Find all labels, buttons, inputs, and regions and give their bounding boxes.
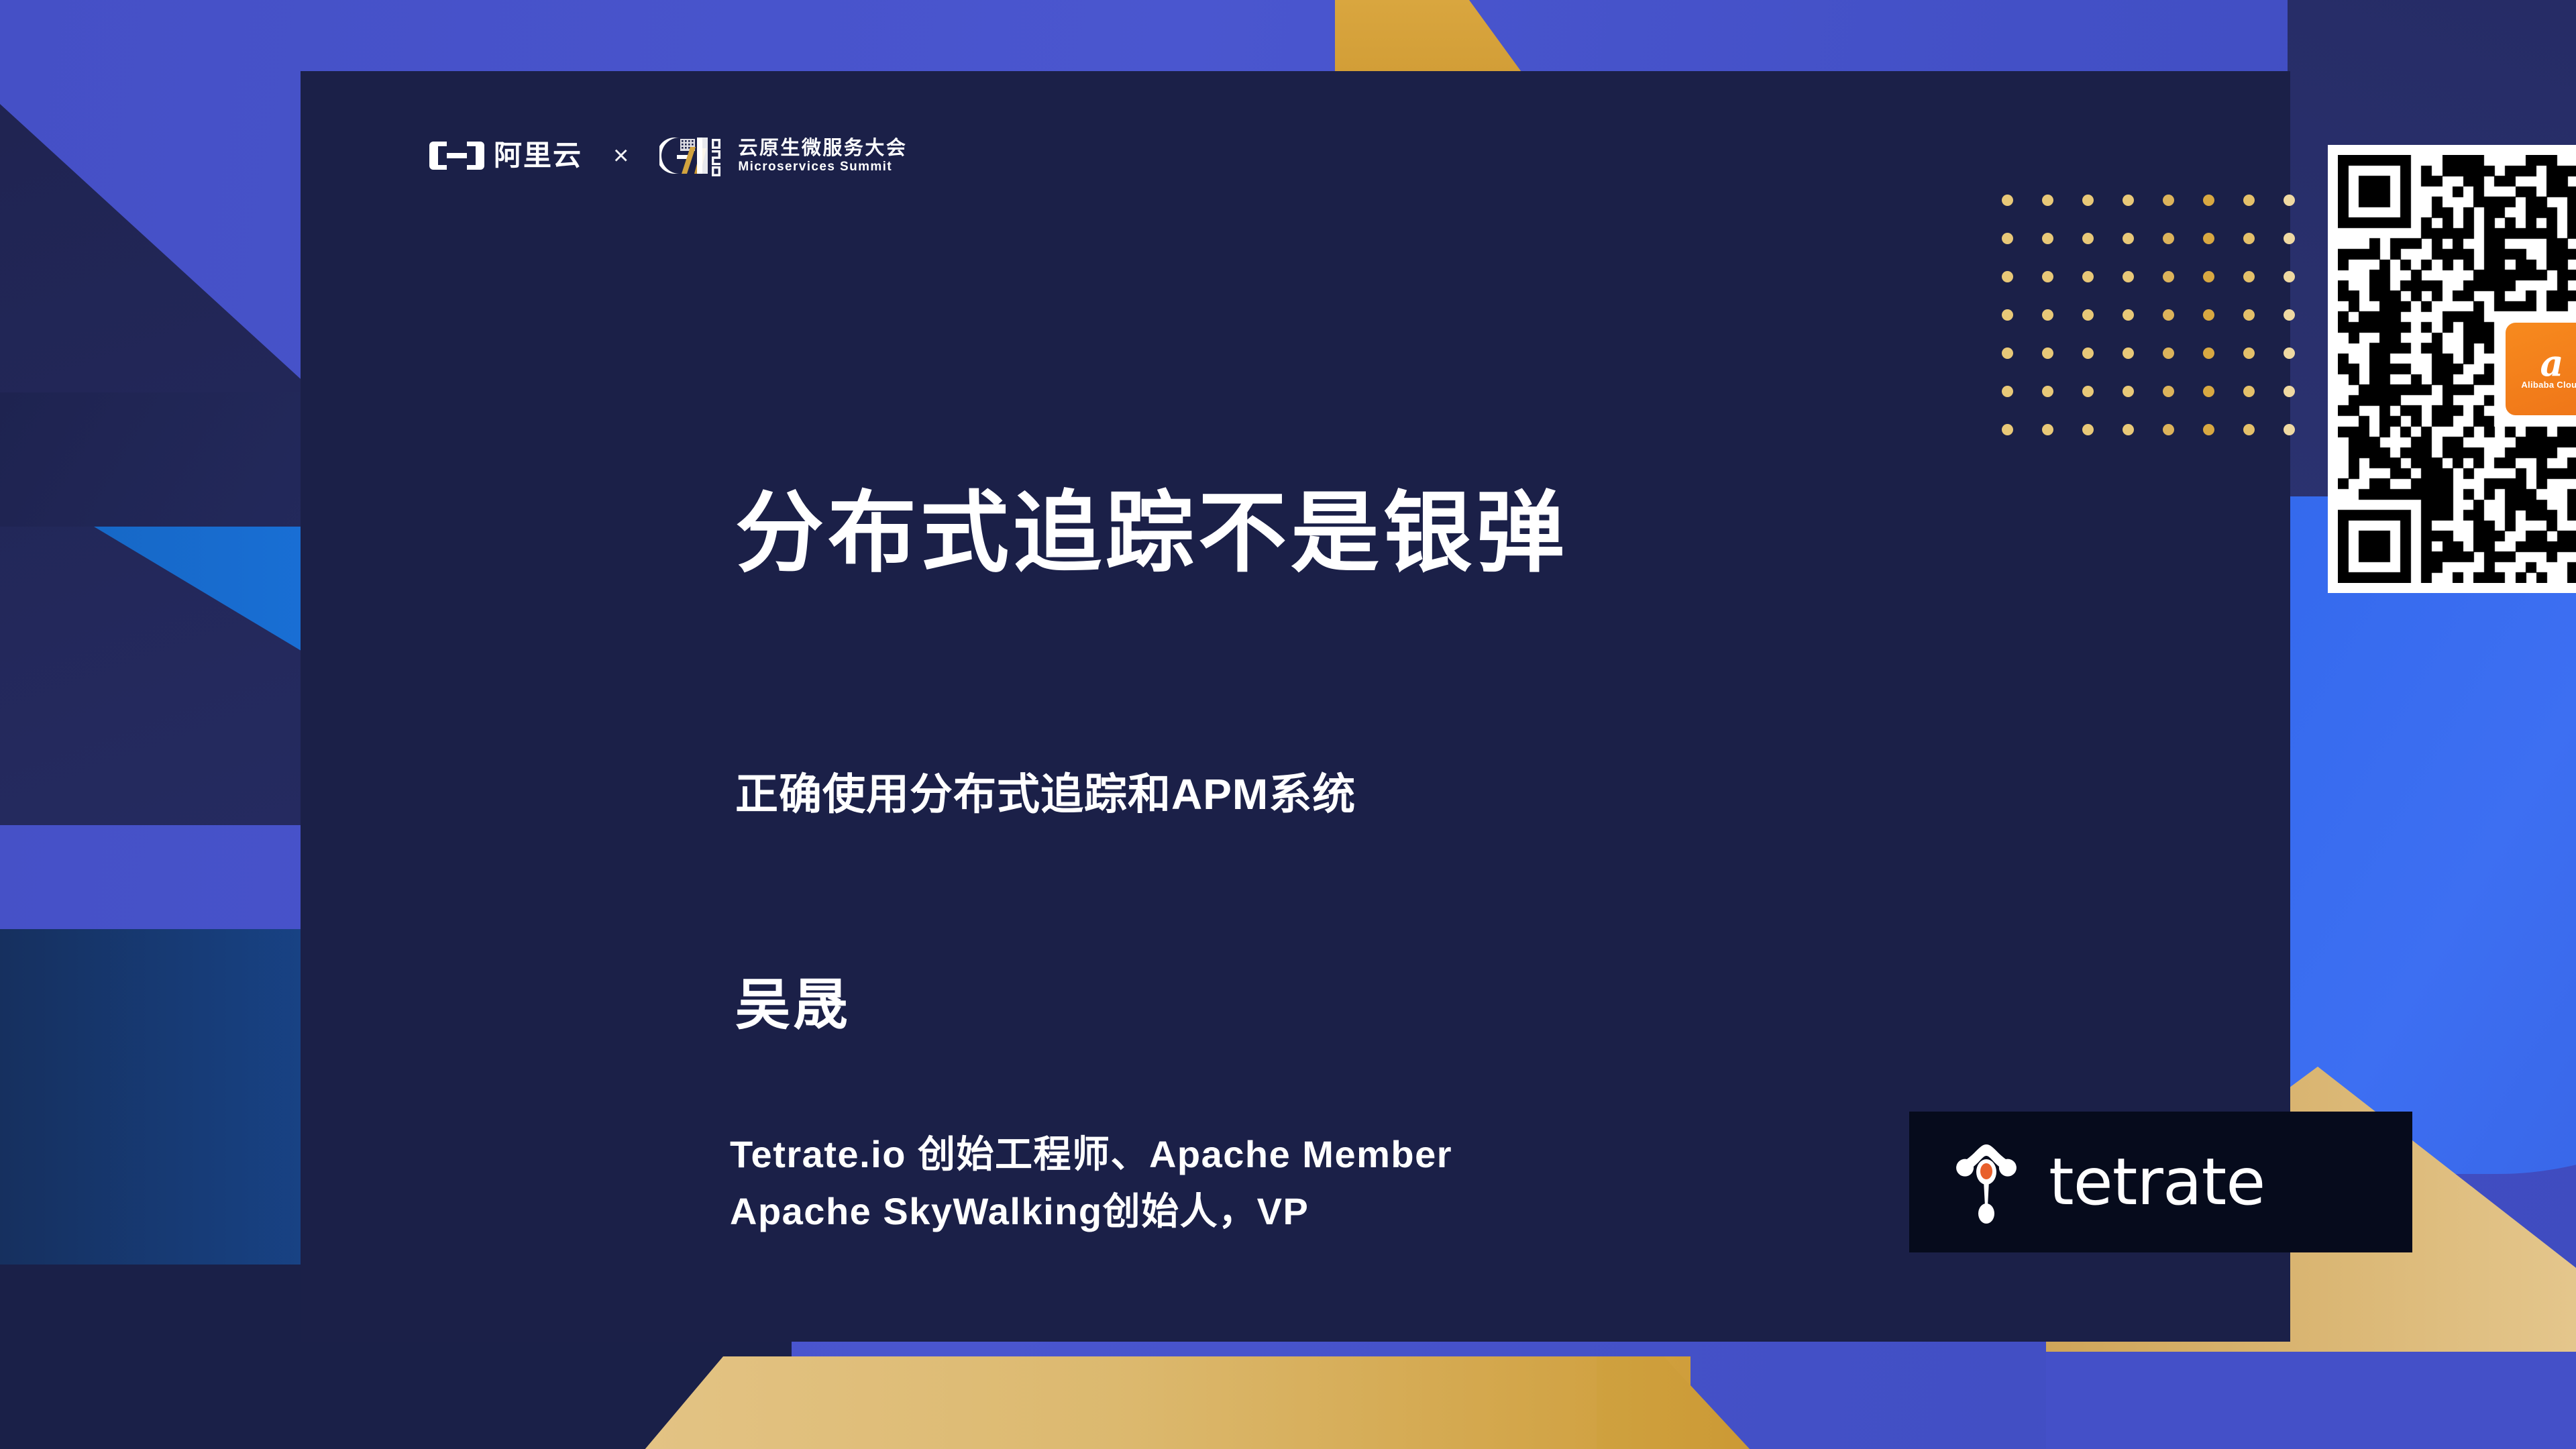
conference-name-block: 云原生微服务大会 Microservices Summit [738,139,907,173]
speaker-credentials-line-2: Apache SkyWalking创始人，VP [730,1183,1452,1240]
speaker-credentials-line-1: Tetrate.io 创始工程师、Apache Member [730,1126,1452,1183]
qr-center-logo-brand: Alibaba Cloud [2521,380,2576,390]
background-blue-bottom-right [2046,1352,2576,1449]
header-logo-row: 阿里云 × [429,135,907,176]
background-gold-band-bottom [644,1356,1690,1449]
alibaba-cloud-logo: 阿里云 [429,138,582,174]
alibaba-cloud-label: 阿里云 [494,142,582,170]
tetrate-mark-icon [1947,1135,2026,1229]
qr-center-logo: a Alibaba Cloud [2501,318,2576,420]
tetrate-wordmark: tetrate [2049,1150,2265,1214]
conference-name-zh: 云原生微服务大会 [738,139,907,158]
conference-name-en: Microservices Summit [738,160,907,173]
presentation-slide: 阿里云 × [0,0,2576,1449]
cn-2020-mark-icon [659,135,729,176]
slide-subtitle: 正确使用分布式追踪和APM系统 [735,769,1356,820]
cross-separator-icon: × [613,141,629,171]
gold-dot-grid-decoration [2002,195,2324,462]
conference-logo: 云原生微服务大会 Microservices Summit [659,135,907,176]
speaker-name: 吴晟 [735,975,851,1036]
speaker-credentials: Tetrate.io 创始工程师、Apache Member Apache Sk… [730,1126,1452,1240]
slide-card: 阿里云 × [301,71,2290,1342]
alibaba-swoosh-icon: a [2540,348,2564,378]
qr-code[interactable]: a Alibaba Cloud [2328,145,2576,593]
tetrate-logo: tetrate [1909,1112,2412,1252]
page-title: 分布式追踪不是银弹 [735,486,1568,582]
alibaba-cloud-bracket-icon [429,138,484,174]
